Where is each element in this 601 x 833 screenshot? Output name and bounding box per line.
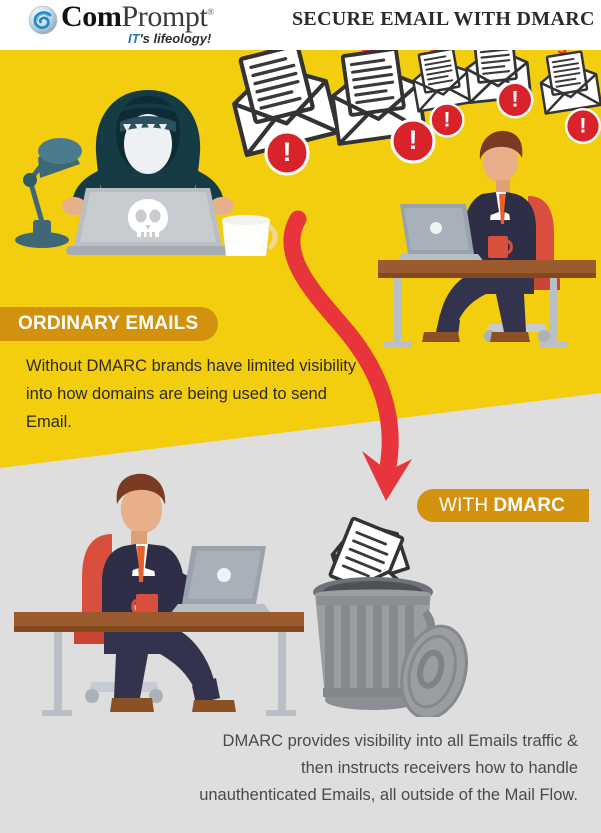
brand-name-part1: Com bbox=[61, 0, 121, 33]
brand-logo[interactable]: ComPrompt® IT's lifeology! bbox=[28, 1, 278, 49]
phishing-email-5 bbox=[536, 48, 601, 114]
desk-lamp-icon bbox=[15, 138, 82, 248]
registered-mark: ® bbox=[207, 7, 213, 17]
swirl-circle-logo-icon bbox=[28, 5, 58, 35]
svg-text:!: ! bbox=[283, 137, 292, 167]
page-header: ComPrompt® IT's lifeology! SECURE EMAIL … bbox=[0, 0, 601, 50]
ordinary-emails-description: Without DMARC brands have limited visibi… bbox=[26, 352, 376, 436]
phishing-email-3 bbox=[407, 48, 473, 111]
laptop-with-skull-icon bbox=[66, 188, 230, 255]
badge-dmarc-label-bold: DMARC bbox=[493, 495, 565, 517]
page-title: SECURE EMAIL WITH DMARC bbox=[292, 8, 595, 31]
tagline-rest: 's lifeology! bbox=[140, 31, 212, 46]
with-dmarc-description: DMARC provides visibility into all Email… bbox=[188, 728, 578, 809]
badge-with-dmarc: WITH DMARC bbox=[417, 489, 589, 522]
badge-ordinary-emails: ORDINARY EMAILS bbox=[0, 307, 218, 341]
brand-tagline: IT's lifeology! bbox=[128, 31, 211, 46]
businessman-at-desk-bottom-illustration bbox=[8, 472, 308, 722]
brand-logo-text: ComPrompt® bbox=[61, 0, 214, 34]
red-mug-icon bbox=[488, 236, 511, 258]
badge-dmarc-label-light: WITH bbox=[439, 495, 488, 517]
infographic-page: ComPrompt® IT's lifeology! SECURE EMAIL … bbox=[0, 0, 601, 833]
alert-badge-1: ! bbox=[266, 132, 308, 174]
tagline-prefix: IT bbox=[128, 31, 140, 46]
brand-name-part2: Prompt bbox=[121, 0, 207, 33]
trash-can-with-emails-illustration bbox=[295, 512, 490, 717]
badge-ordinary-label: ORDINARY EMAILS bbox=[18, 313, 198, 335]
